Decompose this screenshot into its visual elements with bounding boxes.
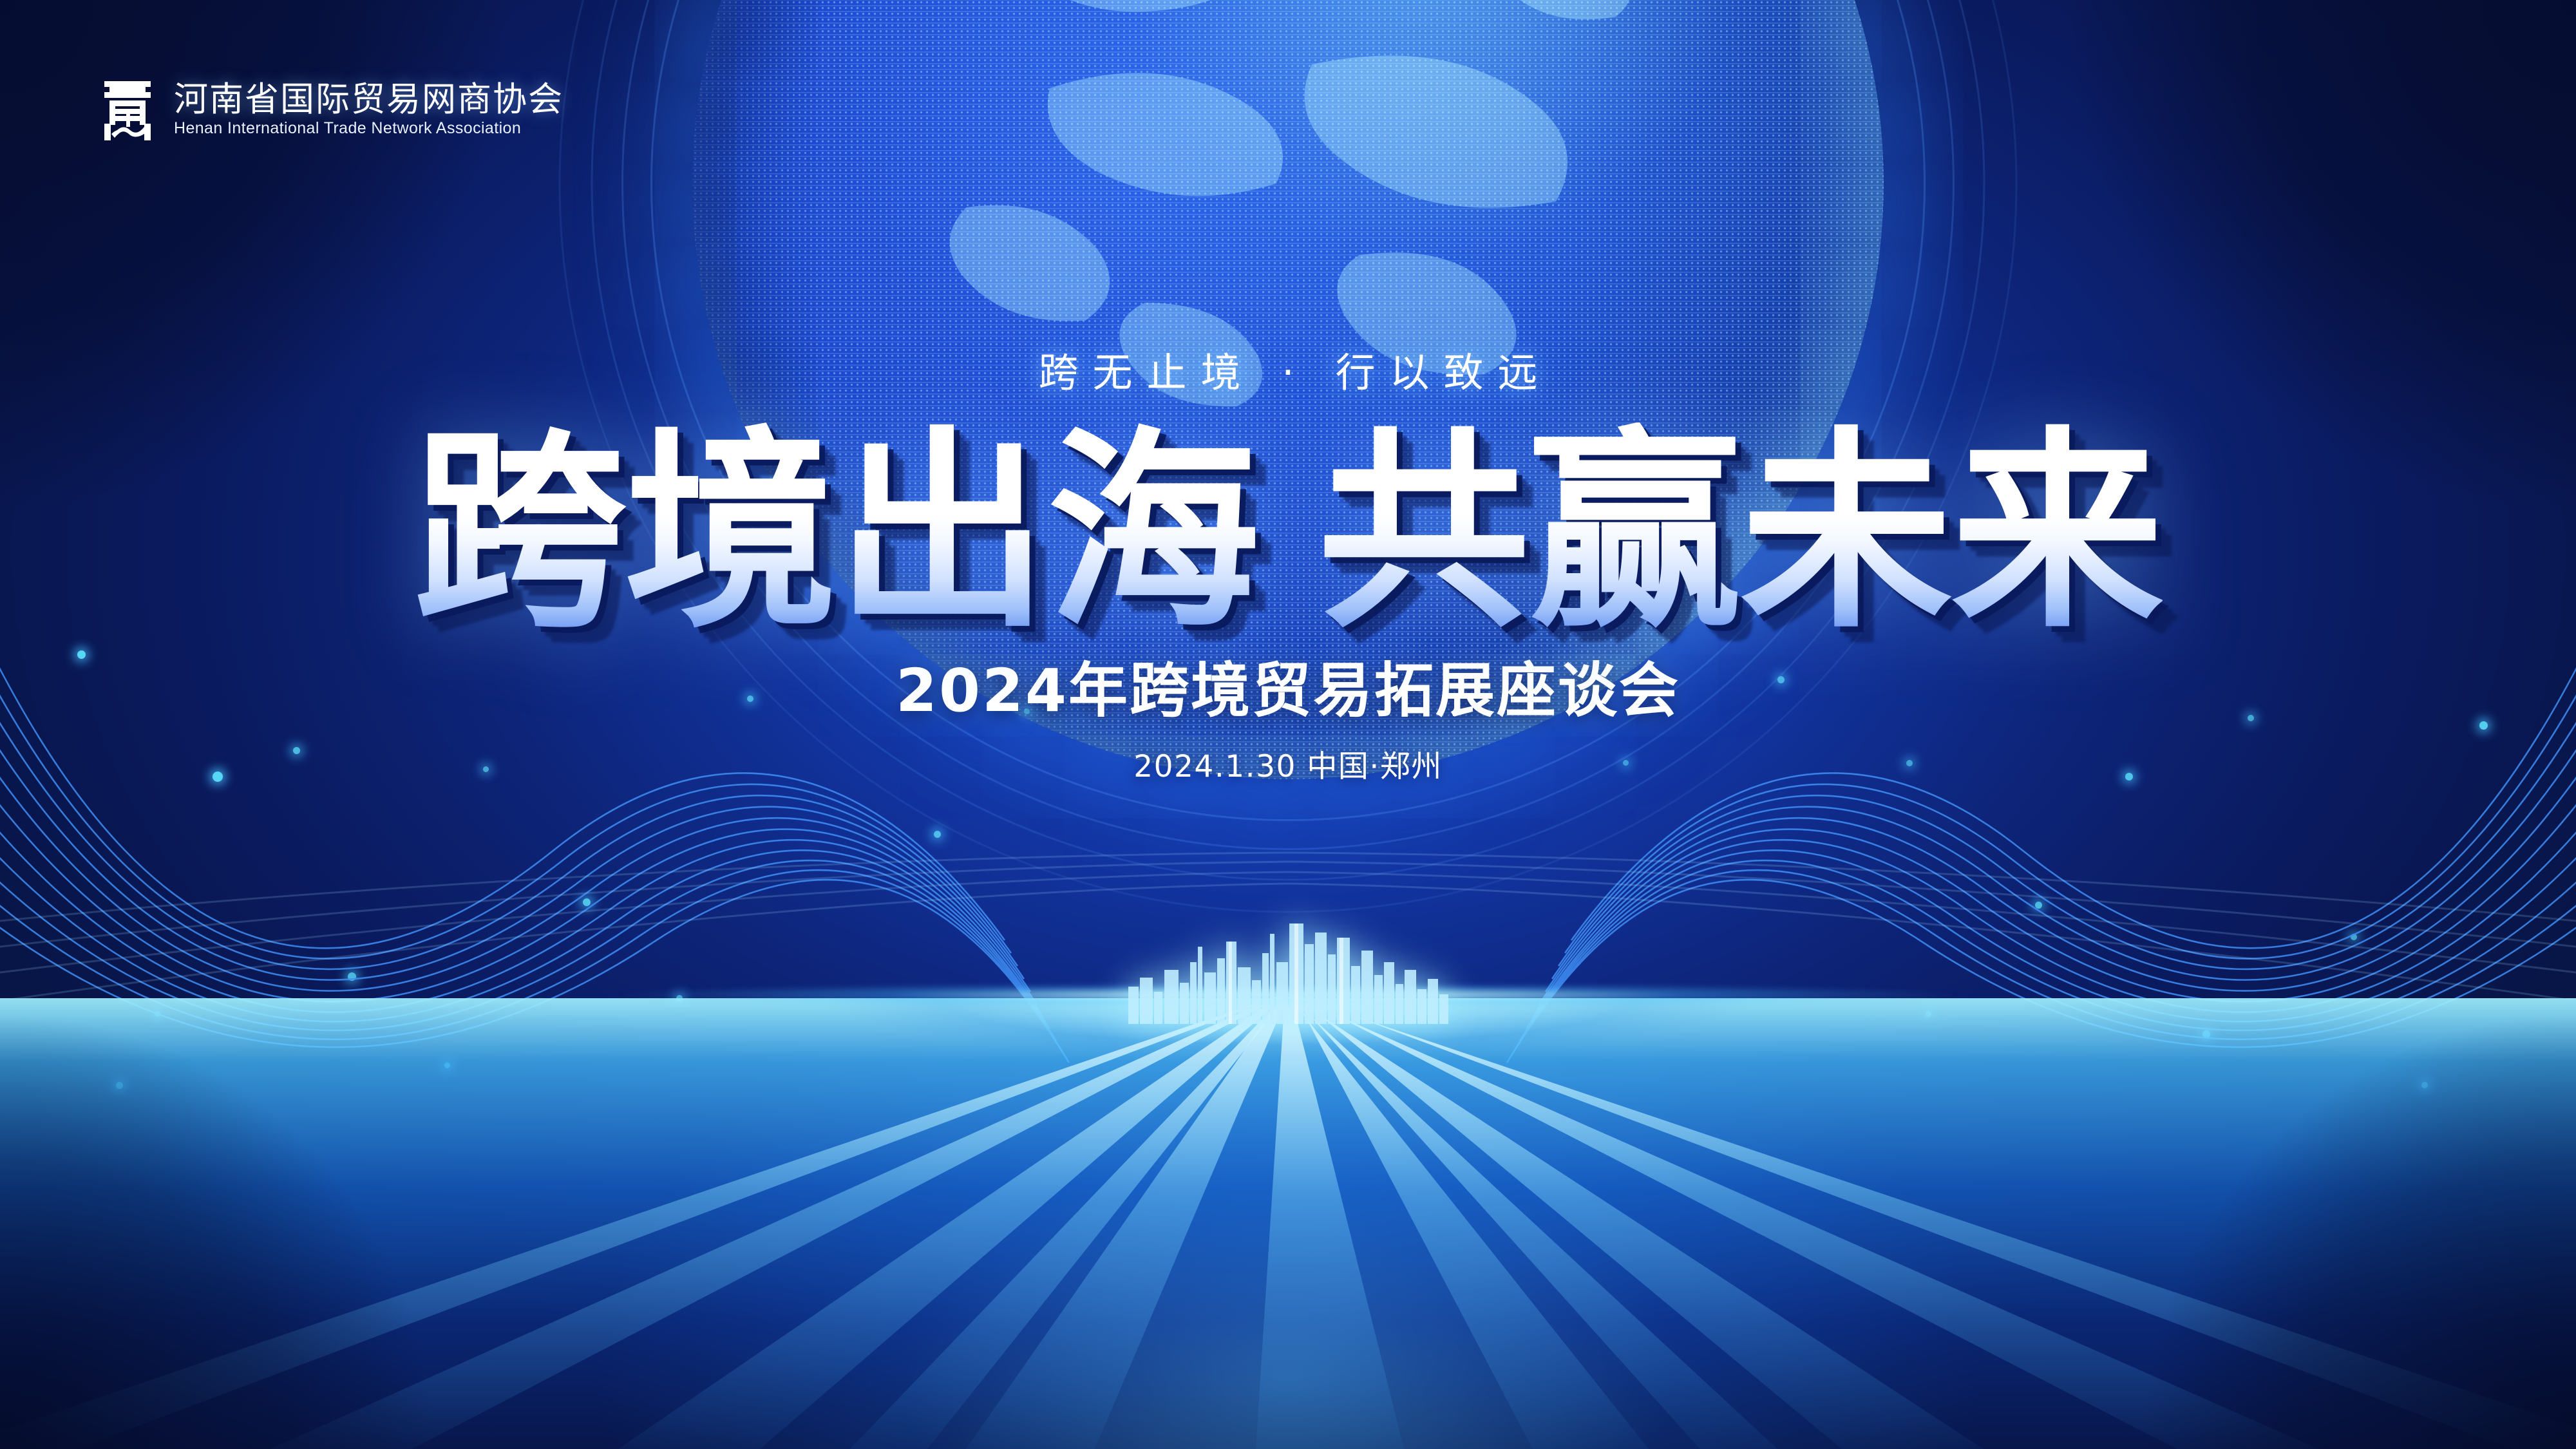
poster-canvas: 河南省国际贸易网商协会 Henan International Trade Ne…: [0, 0, 2576, 1449]
hero-content: 跨无止境 · 行以致远 跨境出海 共赢未来 2024年跨境贸易拓展座谈会 202…: [0, 0, 2576, 782]
headline-part-1: 跨境出海: [413, 422, 1258, 643]
glowing-city-skyline-icon: [1121, 908, 1455, 1024]
hero-subtitle: 2024年跨境贸易拓展座谈会: [896, 661, 1680, 721]
hero-datetime: 2024.1.30 中国·郑州: [1133, 752, 1443, 782]
hero-tagline: 跨无止境 · 行以致远: [1024, 353, 1551, 393]
ground-plane: [0, 998, 2576, 1449]
hero-headline: 跨境出海 共赢未来: [413, 422, 2163, 643]
headline-part-2: 共赢未来: [1318, 422, 2163, 643]
